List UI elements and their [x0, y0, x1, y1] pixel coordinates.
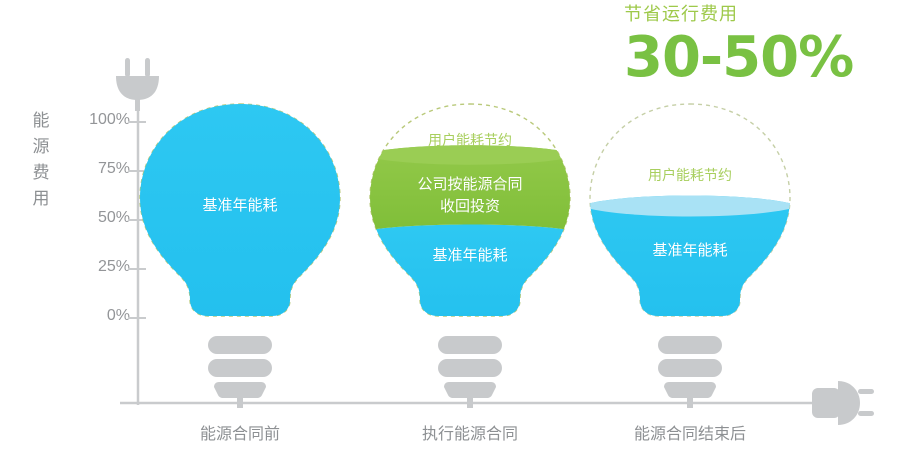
bulb-3-blue-label: 基准年能耗	[605, 240, 775, 261]
bulb-2-saving-label: 用户能耗节约	[380, 130, 560, 150]
bulb-2-fill-blue	[360, 225, 580, 331]
bulb-1-base	[208, 336, 272, 408]
bulb-3-base	[658, 336, 722, 408]
chart-svg	[0, 0, 900, 473]
bulb-2-green-label-line2: 收回投资	[385, 196, 555, 217]
bulb-1-blue-label: 基准年能耗	[155, 195, 325, 216]
plug-socket-icon	[812, 381, 874, 425]
bulb-1	[130, 98, 350, 408]
bulb-3-fill-blue	[580, 196, 800, 331]
bulb-2-blue-label: 基准年能耗	[385, 245, 555, 266]
bulb-2-green-label-line1: 公司按能源合同	[385, 174, 555, 195]
infographic-canvas: 节省运行费用 30-50% 能 源 费 用 100% 75% 50% 25% 0…	[0, 0, 900, 473]
plug-icon	[116, 58, 159, 111]
bulb-2-base	[438, 336, 502, 408]
bulb-3-saving-label: 用户能耗节约	[600, 165, 780, 185]
